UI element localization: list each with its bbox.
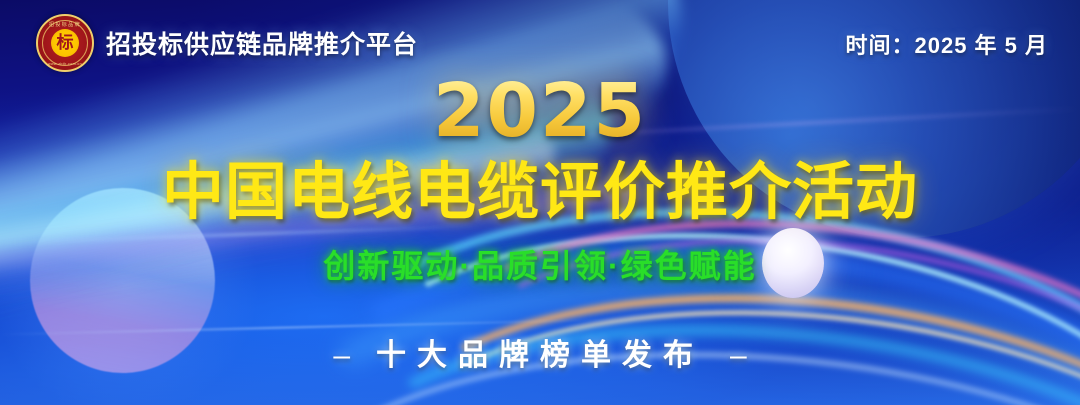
footer-text: 十大品牌榜单发布 [376,339,704,372]
main-copy-block: 2025 中国电线电缆评价推介活动 创新驱动·品质引领·绿色赋能 [0,74,1080,287]
event-footer-line: –十大品牌榜单发布– [0,330,1080,374]
event-slogan: 创新驱动·品质引领·绿色赋能 [0,241,1080,287]
footer-dash-left: – [307,339,376,372]
event-headline: 中国电线电缆评价推介活动 [0,160,1080,225]
seal-logo-icon: 招投标品牌 标 www.zbtb.com.cn [36,14,94,72]
event-year: 2025 [0,74,1080,148]
header-brand: 招投标品牌 标 www.zbtb.com.cn 招投标供应链品牌推介平台 [36,14,418,72]
event-date-label: 时间：2025 年 5 月 [845,28,1048,60]
platform-title: 招投标供应链品牌推介平台 [106,25,418,61]
logo-arc-bottom-text: www.zbtb.com.cn [38,62,92,66]
logo-arc-top-text: 招投标品牌 [38,21,92,28]
footer-dash-right: – [704,339,773,372]
event-banner: 招投标品牌 标 www.zbtb.com.cn 招投标供应链品牌推介平台 时间：… [0,0,1080,405]
